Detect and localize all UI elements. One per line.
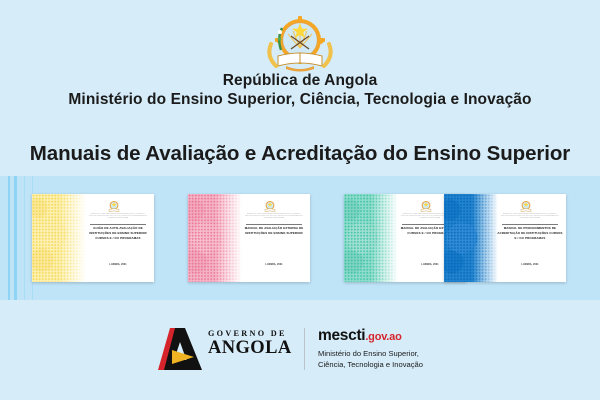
logo-divider: [304, 328, 305, 370]
cover-coat-of-arms-icon: [262, 200, 278, 213]
mescti-name-label: mescti: [318, 327, 365, 344]
cover-divider: [502, 224, 558, 225]
cover-year-text: LUANDA, 2021: [240, 264, 308, 266]
cover-title-text: MANUAL DE AVALIAÇÃO EXTERNA DE INSTITUIÇ…: [240, 226, 308, 236]
cover-year-text: LUANDA, 2021: [84, 264, 152, 266]
cover-title-text: GUIÃO DE AUTO-AVALIAÇÃO DE INSTITUIÇÕES …: [84, 226, 152, 241]
cover-halftone-dots: [344, 194, 398, 282]
header-section: República de Angola Ministério do Ensino…: [0, 0, 600, 176]
band-stripe: [8, 176, 10, 300]
band-stripe: [14, 176, 17, 300]
cover-divider: [90, 224, 146, 225]
ministry-title: Ministério do Ensino Superior, Ciência, …: [0, 91, 600, 109]
mescti-subtitle-line-2: Ciência, Tecnologia e Inovação: [318, 359, 448, 370]
cover-header-text: REPÚBLICA DE ANGOLA MINISTÉRIO DO ENSINO…: [244, 214, 304, 220]
book-cover-card[interactable]: REPÚBLICA DE ANGOLA MINISTÉRIO DO ENSINO…: [32, 194, 154, 282]
cover-halftone-dots: [188, 194, 242, 282]
governo-de-angola-wordmark: GOVERNO DE ANGOLA: [208, 330, 308, 359]
cover-title-text: MANUAL DE PROCEDIMENTOS DE ACREDITAÇÃO D…: [496, 226, 564, 241]
cover-coat-of-arms-icon: [418, 200, 434, 213]
footer-logos: GOVERNO DE ANGOLA mescti.gov.ao Ministér…: [156, 324, 446, 376]
cover-divider: [246, 224, 302, 225]
book-cover-card[interactable]: REPÚBLICA DE ANGOLA MINISTÉRIO DO ENSINO…: [444, 194, 566, 282]
cover-coat-of-arms-icon: [106, 200, 122, 213]
mescti-logo: mescti.gov.ao Ministério do Ensino Super…: [318, 328, 448, 370]
governo-de-label: GOVERNO DE: [208, 330, 308, 338]
angola-label: ANGOLA: [208, 339, 308, 358]
country-title: República de Angola: [0, 72, 600, 90]
mescti-wordmark: mescti.gov.ao: [318, 328, 448, 344]
angola-coat-of-arms-icon: [262, 14, 338, 72]
cover-year-text: LUANDA, 2021: [496, 264, 564, 266]
cover-coat-of-arms-icon: [518, 200, 534, 213]
mescti-subtitle-line-1: Ministério do Ensino Superior,: [318, 348, 448, 359]
cover-halftone-dots: [32, 194, 86, 282]
footer-section: GOVERNO DE ANGOLA mescti.gov.ao Ministér…: [0, 300, 600, 400]
cover-halftone-dots: [444, 194, 498, 282]
page-title: Manuais de Avaliação e Acreditação do En…: [0, 142, 600, 166]
mescti-subtitle: Ministério do Ensino Superior, Ciência, …: [318, 348, 448, 370]
book-cover-card[interactable]: REPÚBLICA DE ANGOLA MINISTÉRIO DO ENSINO…: [188, 194, 310, 282]
cover-header-text: REPÚBLICA DE ANGOLA MINISTÉRIO DO ENSINO…: [500, 214, 560, 220]
cover-header-text: REPÚBLICA DE ANGOLA MINISTÉRIO DO ENSINO…: [88, 214, 148, 220]
governo-de-angola-logo-icon: [156, 326, 202, 370]
mescti-tld-label: .gov.ao: [365, 331, 401, 343]
band-stripe: [24, 176, 25, 300]
